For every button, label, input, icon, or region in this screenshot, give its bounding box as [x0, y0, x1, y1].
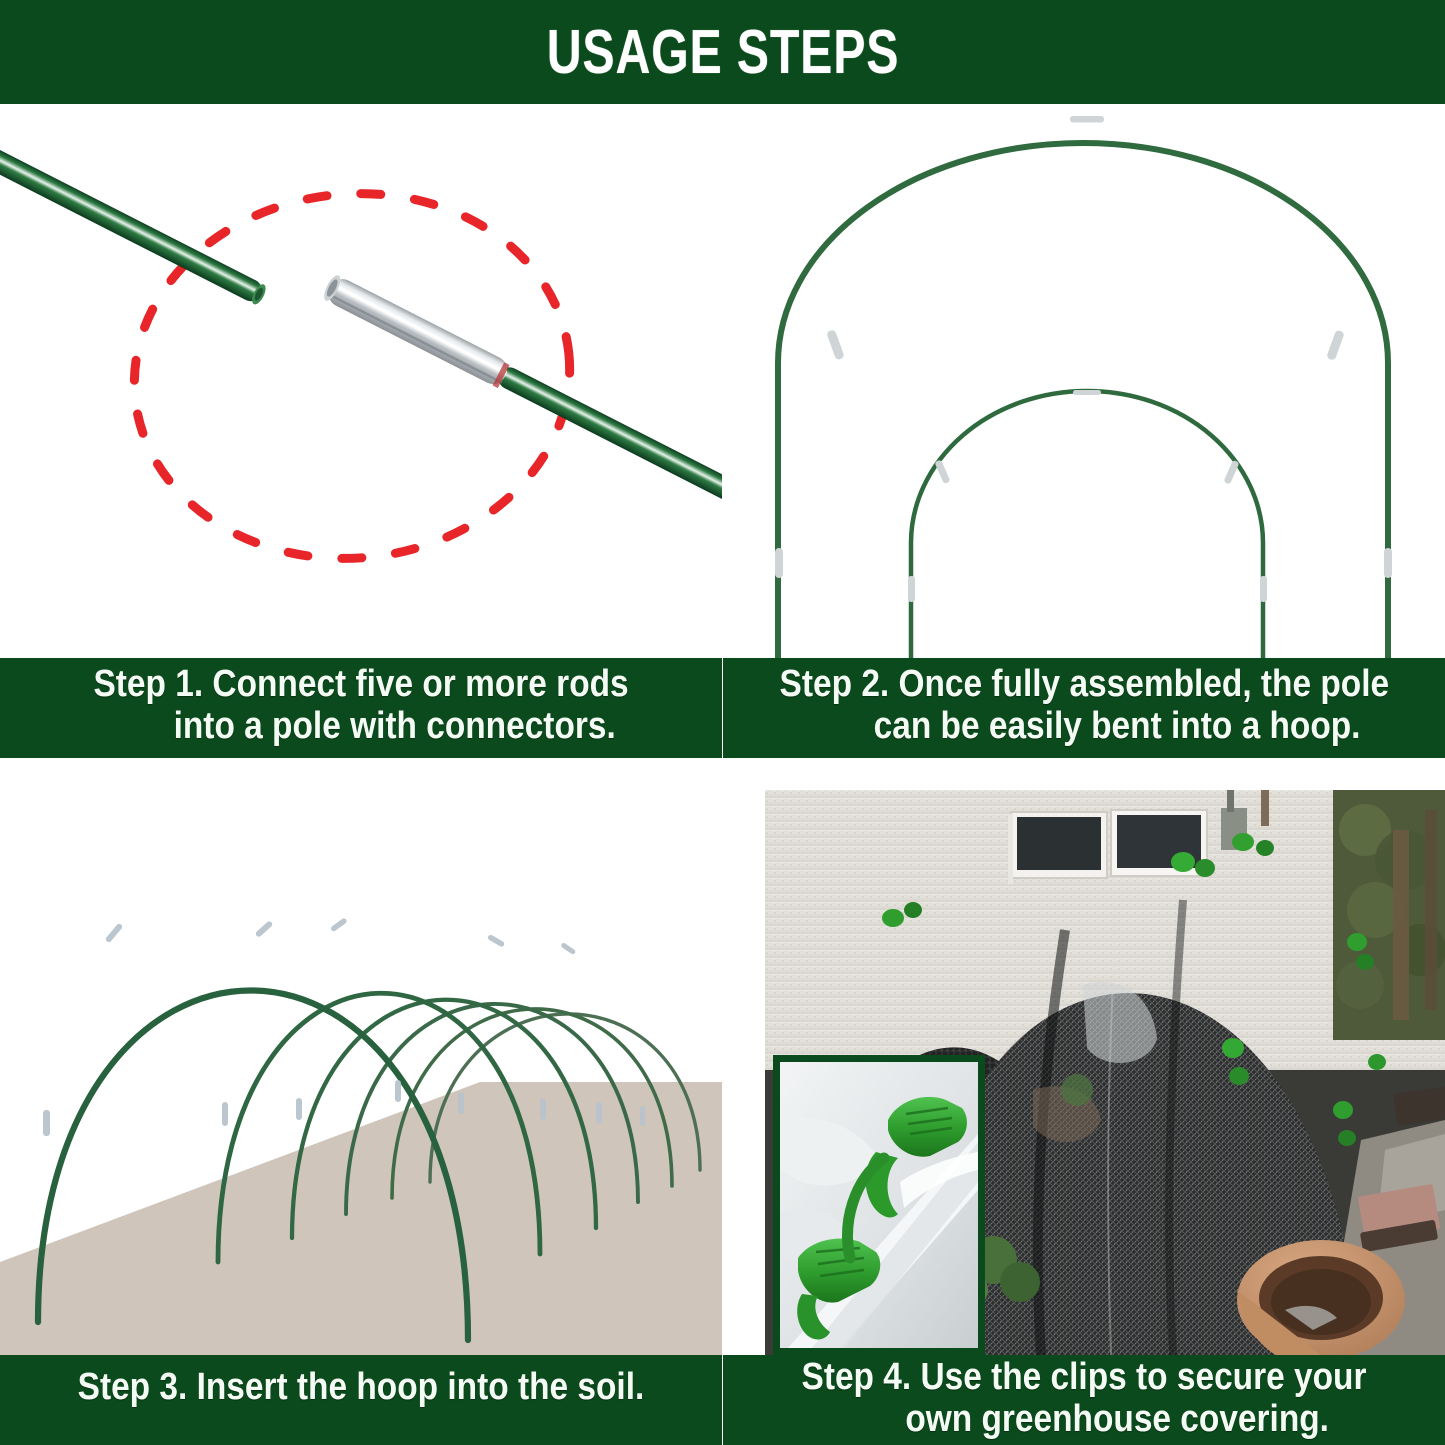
infographic-root: USAGE STEPS	[0, 0, 1445, 1445]
step-1-caption-line-1: Step 1. Connect five or more rods	[93, 664, 628, 706]
step-3-caption-bar: Step 3. Insert the hoop into the soil.	[0, 1355, 722, 1445]
clip-closeup-inset	[773, 1055, 985, 1355]
page-title: USAGE STEPS	[546, 17, 899, 88]
greenhouse-photo	[765, 790, 1445, 1355]
step-2-panel: Step 2. Once fully assembled, the pole c…	[723, 108, 1445, 758]
header-band: USAGE STEPS	[0, 0, 1445, 104]
step-1-panel: Step 1. Connect five or more rods into a…	[0, 108, 722, 758]
step-3-illustration	[0, 762, 722, 1355]
foliage-right	[1333, 790, 1445, 1040]
terracotta-pot	[1237, 1240, 1405, 1355]
step-2-caption-line-2: can be easily bent into a hoop.	[874, 706, 1361, 748]
step-3-panel: Step 3. Insert the hoop into the soil.	[0, 762, 722, 1445]
step-2-caption-bar: Step 2. Once fully assembled, the pole c…	[723, 658, 1445, 758]
step-2-caption-line-1: Step 2. Once fully assembled, the pole	[779, 664, 1389, 706]
step-4-caption-line-2: own greenhouse covering.	[906, 1399, 1330, 1441]
step-3-caption-line-1: Step 3. Insert the hoop into the soil.	[78, 1367, 645, 1409]
step-1-illustration	[0, 108, 722, 658]
step-4-panel: Step 4. Use the clips to secure your own…	[723, 762, 1445, 1445]
step-1-caption-line-2: into a pole with connectors.	[173, 706, 615, 748]
wall-windows	[1008, 810, 1207, 884]
step-4-caption-bar: Step 4. Use the clips to secure your own…	[723, 1355, 1445, 1445]
step-1-caption-bar: Step 1. Connect five or more rods into a…	[0, 658, 722, 758]
step-4-caption-line-1: Step 4. Use the clips to secure your	[802, 1357, 1367, 1399]
step-4-photo-area	[723, 762, 1445, 1355]
step-2-illustration	[723, 108, 1445, 658]
